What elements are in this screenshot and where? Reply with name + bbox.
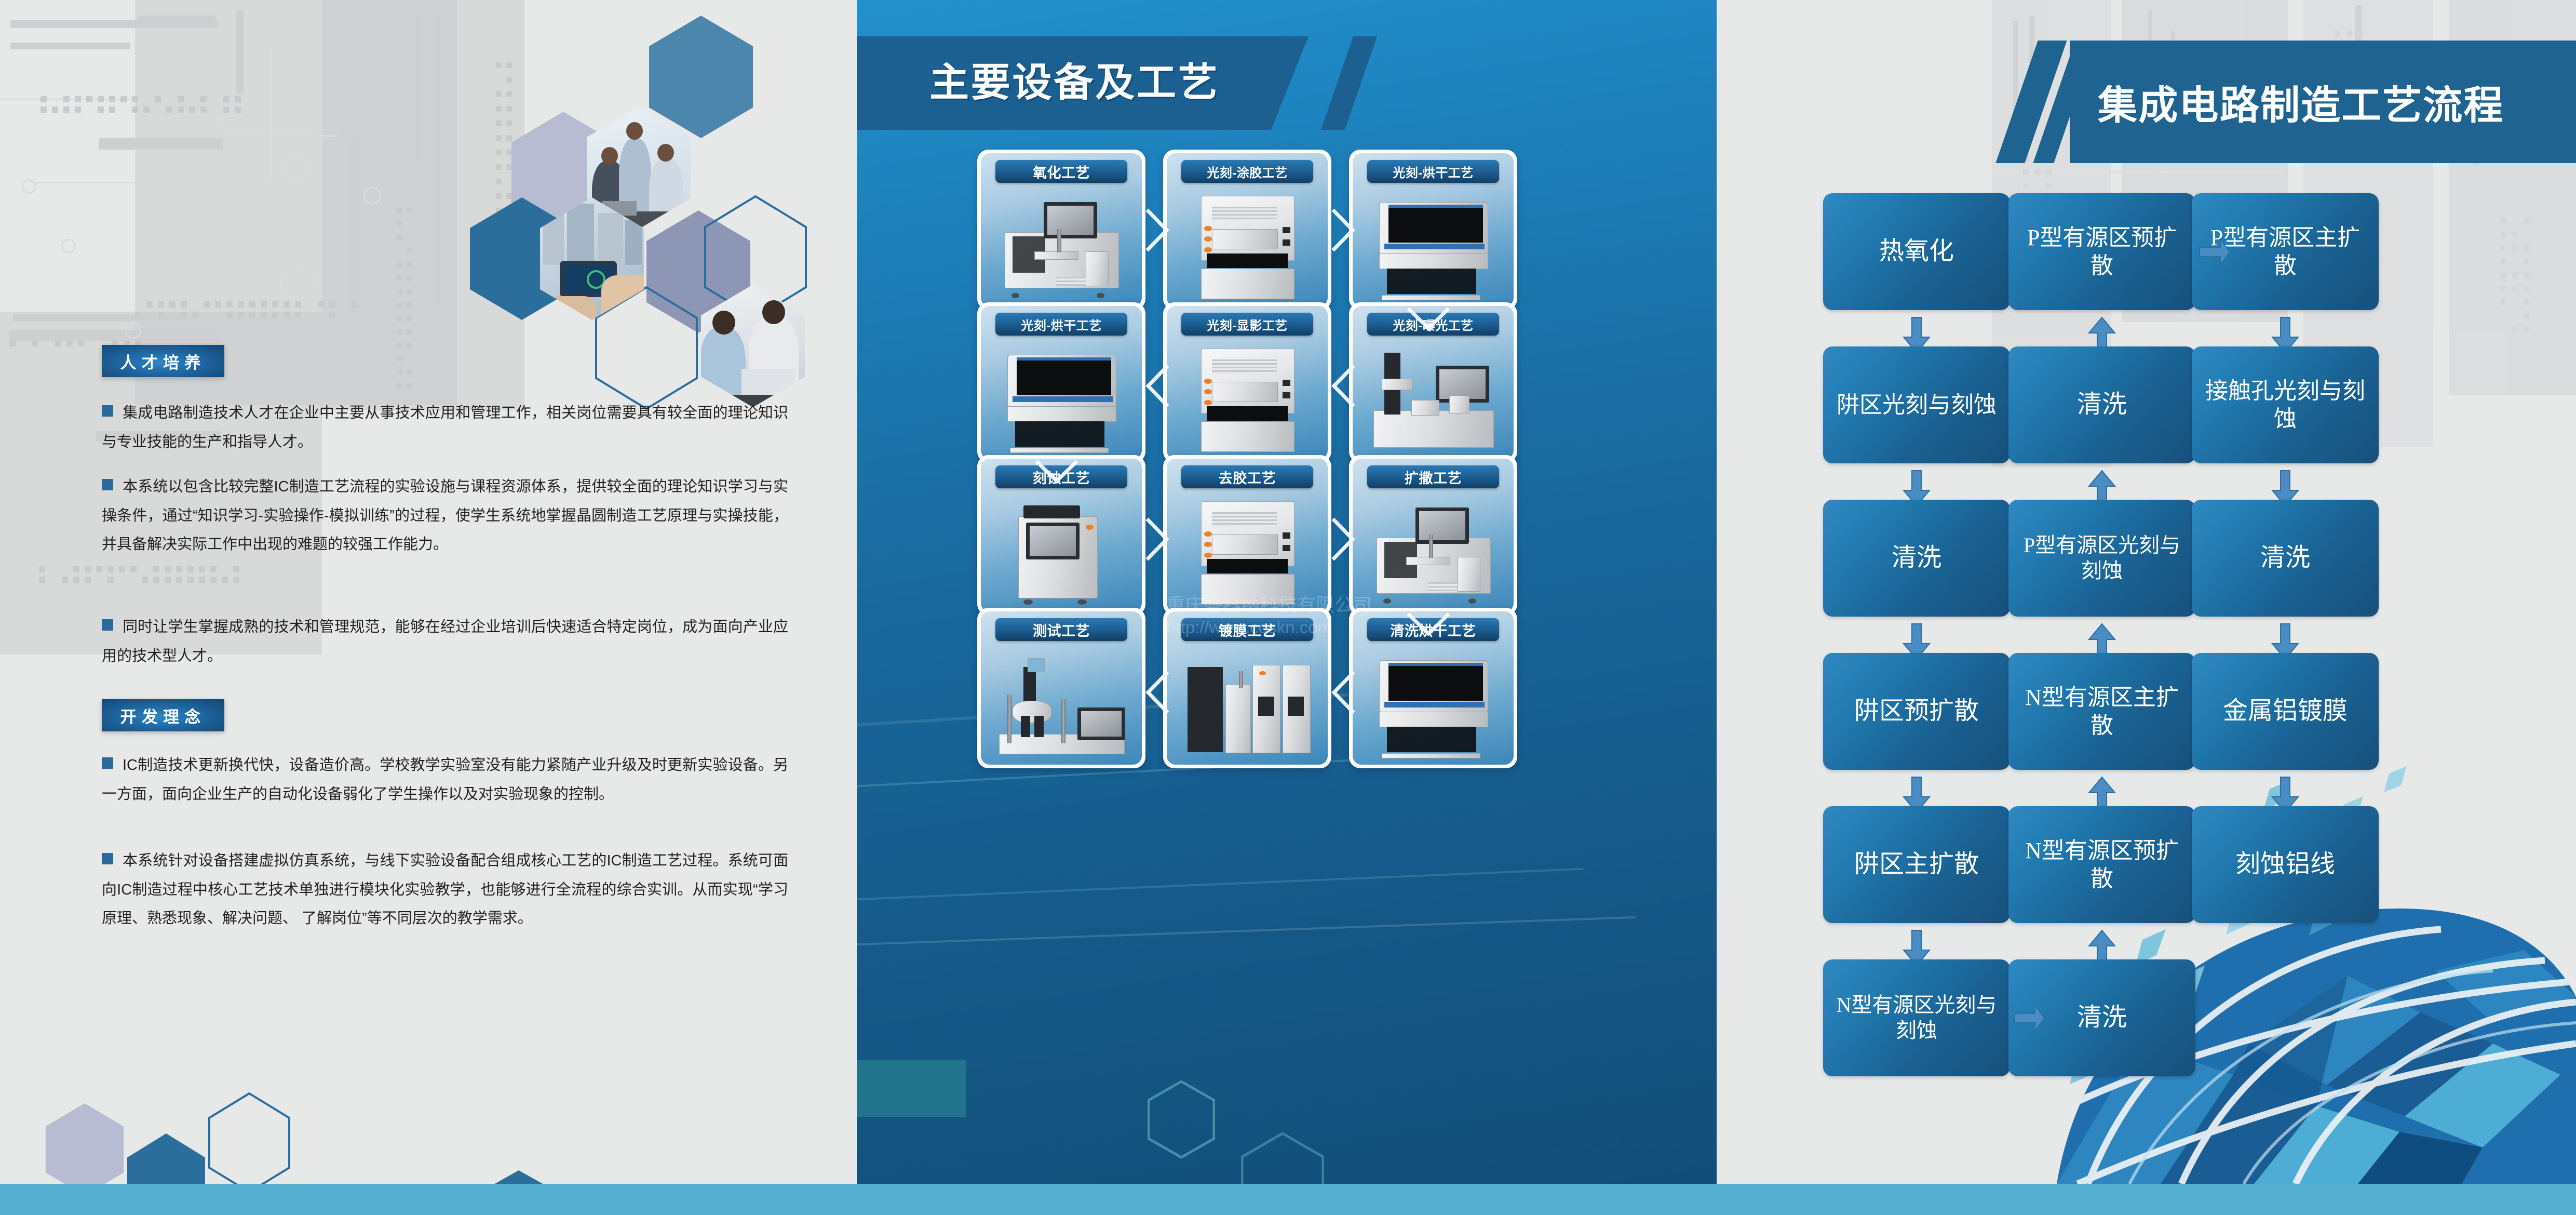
flowchart-node[interactable]: 金属铝镀膜: [2192, 653, 2379, 770]
paragraph-text: 同时让学生掌握成熟的技术和管理规范，能够在经过企业培训后快速适合特定岗位，成为面…: [102, 619, 788, 664]
flowchart-node[interactable]: P型有源区光刻与刻蚀: [2008, 500, 2195, 617]
flowchart-node[interactable]: P型有源区预扩散: [2008, 193, 2195, 310]
right-title-bar: 集成电路制造工艺流程: [2070, 41, 2576, 163]
arrow-right-icon-bottom: [2013, 1004, 2045, 1032]
paragraph-text: 本系统针对设备搭建虚拟仿真系统，与线下实验设备配合组成核心工艺的IC制造工艺过程…: [102, 852, 788, 927]
arrow-right-icon-top: [2199, 238, 2231, 266]
equipment-label: 氧化工艺: [995, 160, 1127, 183]
badge-talent-training: 人才培养: [102, 345, 224, 377]
equipment-photo: [1366, 346, 1501, 453]
hexagon-bottom-lavender: [46, 1103, 124, 1196]
bullet-square: [102, 405, 113, 417]
equipment-card[interactable]: 扩撒工艺: [1349, 455, 1517, 616]
chevron-left-icon: [1331, 670, 1356, 715]
equipment-card-inner: 光刻-显影工艺: [1167, 306, 1328, 459]
equipment-photo: [1180, 652, 1315, 758]
equipment-label: 光刻-显影工艺: [1181, 313, 1313, 336]
mid-panel: 主要设备及工艺 氧化工艺光刻-涂胶工艺光刻-烘干工艺光刻-烘干工艺光刻-显影工艺…: [857, 0, 1717, 1215]
equipment-photo: [994, 194, 1129, 300]
left-panel: /*dots generated below*/: [0, 0, 857, 1215]
equipment-card-inner: 测试工艺: [981, 611, 1142, 765]
bullet-square: [102, 479, 113, 490]
flowchart-node[interactable]: 清洗: [1823, 500, 2010, 617]
flowchart-node[interactable]: 阱区预扩散: [1823, 653, 2010, 770]
chevron-left-icon: [1145, 364, 1170, 408]
equipment-label: 镀膜工艺: [1181, 618, 1313, 641]
equipment-photo: [1366, 499, 1501, 606]
hexagon-solid-blue: [649, 16, 753, 138]
equipment-photo: [1180, 194, 1315, 300]
equipment-card[interactable]: 氧化工艺: [977, 150, 1145, 310]
chevron-down-icon: [1406, 612, 1451, 637]
right-panel-title: 集成电路制造工艺流程: [2098, 73, 2504, 130]
paragraph-text: 集成电路制造技术人才在企业中主要从事技术应用和管理工作，相关岗位需要具有较全面的…: [102, 405, 788, 450]
mid-decor-hexoutline: [1148, 1080, 1215, 1158]
equipment-card-inner: 镀膜工艺: [1167, 611, 1328, 765]
equipment-label: 扩撒工艺: [1367, 465, 1499, 488]
equipment-photo: [994, 346, 1129, 453]
equipment-label: 去胶工艺: [1181, 465, 1313, 488]
equipment-photo: [1180, 499, 1315, 606]
flowchart-node[interactable]: 清洗: [2192, 500, 2379, 617]
badge-label: 开发理念: [120, 704, 206, 727]
equipment-card[interactable]: 去胶工艺: [1163, 455, 1331, 616]
equipment-card-inner: 去胶工艺: [1167, 459, 1328, 612]
equipment-card[interactable]: 光刻-涂胶工艺: [1163, 150, 1331, 310]
paragraph-talent-3: 同时让学生掌握成熟的技术和管理规范，能够在经过企业培训后快速适合特定岗位，成为面…: [102, 613, 788, 671]
bottom-accent-bar: [0, 1184, 2576, 1215]
mid-decor-line-3: [857, 868, 1584, 901]
flowchart-node[interactable]: N型有源区光刻与刻蚀: [1823, 959, 2010, 1076]
circuit-pattern-background: /*dots generated below*/: [0, 0, 524, 660]
equipment-card-inner: 氧化工艺: [981, 153, 1142, 306]
equipment-photo: [1180, 346, 1315, 453]
chevron-right-icon: [1331, 208, 1356, 252]
chevron-right-icon: [1145, 517, 1170, 562]
hexagon-cluster: [498, 10, 841, 374]
equipment-card[interactable]: 光刻-烘干工艺: [977, 302, 1145, 463]
equipment-photo: [1366, 194, 1501, 300]
hexagon-bottom-outline: [208, 1092, 291, 1194]
right-panel: 集成电路制造工艺流程: [1717, 0, 2576, 1215]
equipment-card-inner: 扩撒工艺: [1353, 459, 1514, 612]
badge-development-concept: 开发理念: [102, 699, 224, 731]
flowchart-node[interactable]: 清洗: [2008, 346, 2195, 463]
equipment-label: 测试工艺: [995, 618, 1127, 641]
paragraph-concept-2: 本系统针对设备搭建虚拟仿真系统，与线下实验设备配合组成核心工艺的IC制造工艺过程…: [102, 847, 788, 933]
bullet-square: [102, 757, 113, 769]
flowchart-node[interactable]: 接触孔光刻与刻蚀: [2192, 346, 2379, 463]
equipment-photo: [1366, 652, 1501, 758]
chevron-left-icon: [1331, 364, 1356, 408]
equipment-card-inner: 光刻-烘干工艺: [1353, 153, 1514, 306]
equipment-card[interactable]: 光刻-烘干工艺: [1349, 150, 1517, 310]
equipment-card[interactable]: 测试工艺: [977, 608, 1145, 768]
paragraph-talent-2: 本系统以包含比较完整IC制造工艺流程的实验设施与课程资源体系，提供较全面的理论知…: [102, 473, 788, 559]
equipment-card[interactable]: 光刻-显影工艺: [1163, 302, 1331, 463]
equipment-photo: [994, 652, 1129, 758]
flowchart-node[interactable]: 刻蚀铝线: [2192, 806, 2379, 923]
flowchart-node[interactable]: N型有源区主扩散: [2008, 653, 2195, 770]
chevron-right-icon: [1145, 208, 1170, 252]
mid-title-slash: [1321, 36, 1377, 130]
paragraph-text: 本系统以包含比较完整IC制造工艺流程的实验设施与课程资源体系，提供较全面的理论知…: [102, 478, 788, 553]
paragraph-talent-1: 集成电路制造技术人才在企业中主要从事技术应用和管理工作，相关岗位需要具有较全面的…: [102, 399, 788, 457]
poster-root: /*dots generated below*/: [0, 0, 2576, 1215]
bullet-square: [102, 619, 113, 631]
equipment-label: 光刻-烘干工艺: [1367, 160, 1499, 183]
chevron-left-icon: [1145, 670, 1170, 715]
flowchart-node[interactable]: N型有源区预扩散: [2008, 806, 2195, 923]
equipment-card-inner: 光刻-烘干工艺: [981, 306, 1142, 459]
mid-panel-title: 主要设备及工艺: [929, 50, 1220, 108]
chevron-right-icon: [1331, 517, 1356, 562]
paragraph-concept-1: IC制造技术更新换代快，设备造价高。学校教学实验室没有能力紧随产业升级及时更新实…: [102, 751, 788, 809]
flowchart-node[interactable]: 热氧化: [1823, 193, 2010, 310]
equipment-photo: [994, 499, 1129, 606]
flowchart-node[interactable]: 阱区光刻与刻蚀: [1823, 346, 2010, 463]
paragraph-text: IC制造技术更新换代快，设备造价高。学校教学实验室没有能力紧随产业升级及时更新实…: [102, 757, 788, 803]
flowchart-node[interactable]: 阱区主扩散: [1823, 806, 2010, 923]
mid-decor-teal-block: [857, 1060, 966, 1117]
bullet-square: [102, 853, 113, 864]
equipment-label: 光刻-涂胶工艺: [1181, 160, 1313, 183]
badge-label: 人才培养: [120, 350, 206, 373]
equipment-card[interactable]: 镀膜工艺: [1163, 608, 1331, 768]
mid-decor-line-4: [857, 916, 1635, 945]
equipment-label: 光刻-烘干工艺: [995, 313, 1127, 336]
chevron-down-icon: [1034, 459, 1079, 484]
chevron-down-icon: [1406, 306, 1451, 331]
equipment-card-inner: 光刻-涂胶工艺: [1167, 153, 1328, 306]
